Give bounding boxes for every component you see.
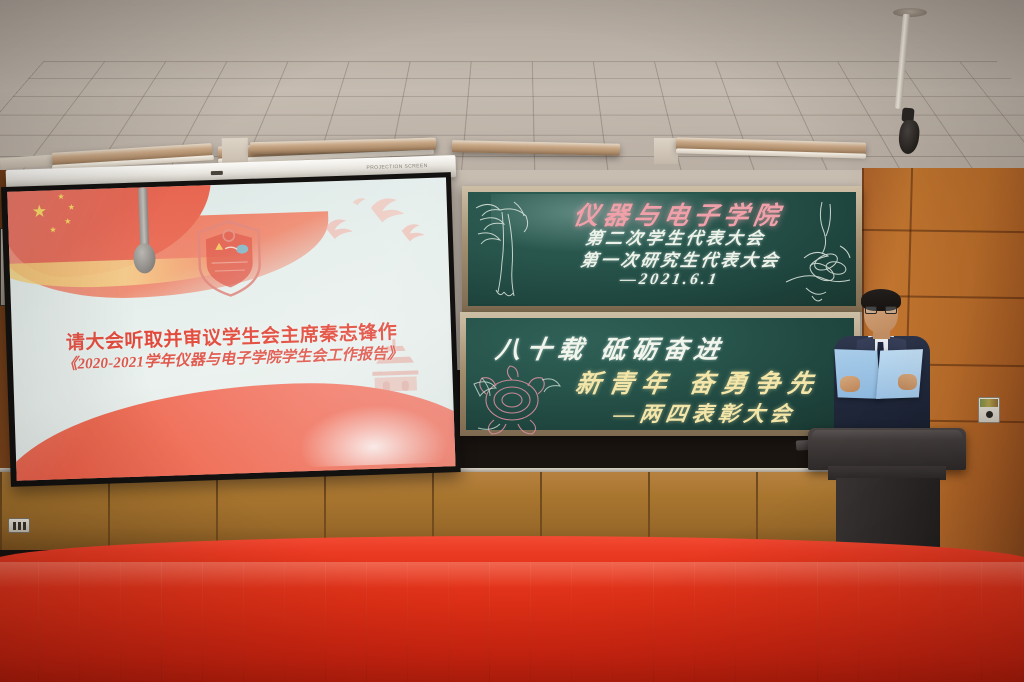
speaker-hand-right — [898, 374, 917, 390]
speaker-person — [828, 292, 934, 430]
flag-star-2: ★ — [68, 204, 75, 212]
tablecloth-highlight — [0, 562, 1024, 588]
wall-plate-button-icon[interactable] — [986, 411, 993, 418]
blackboard-lower: 八十载 砥砺奋进 新青年 奋勇争先 —两四表彰大会 — [460, 312, 860, 436]
flag-star-big: ★ — [32, 203, 48, 220]
blackboard-upper-line-3: 第一次研究生代表大会 — [579, 246, 783, 271]
blackboard-lower-line-2: 新青年 奋勇争先 — [573, 364, 824, 400]
blackboard-upper: 仪器与电子学院 第二次学生代表大会 第一次研究生代表大会 —2021.6.1 — [462, 186, 862, 312]
blackboard-lower-line-1: 八十载 砥砺奋进 — [493, 330, 728, 366]
orchid-ribbon-chalk-drawing — [470, 194, 532, 306]
eyeglasses-icon — [865, 306, 897, 314]
projected-slide: ★ ★ ★ ★ ★ — [7, 177, 455, 480]
blackboard-upper-surface: 仪器与电子学院 第二次学生代表大会 第一次研究生代表大会 —2021.6.1 — [468, 192, 856, 306]
speaker-hand-left — [840, 376, 860, 392]
slide-cloud-highlight — [297, 402, 449, 467]
university-emblem-icon — [194, 217, 265, 299]
folder-page-right — [876, 349, 923, 399]
flag-star-1: ★ — [57, 193, 64, 201]
wall-switch-plate[interactable] — [978, 397, 1000, 423]
projection-screen[interactable]: ★ ★ ★ ★ ★ — [1, 172, 461, 487]
power-outlet-icon[interactable] — [8, 518, 30, 533]
blackboard-upper-date: —2021.6.1 — [619, 271, 721, 289]
folder-page-left — [834, 349, 880, 399]
flag-star-4: ★ — [49, 226, 56, 234]
wall-plate-sticker — [980, 399, 998, 407]
blackboard-lower-surface: 八十载 砥砺奋进 新青年 奋勇争先 —两四表彰大会 — [466, 318, 854, 430]
flag-star-3: ★ — [64, 218, 71, 226]
ceiling-beam-right — [654, 138, 678, 164]
dove-icon-group — [312, 190, 434, 254]
podium-top-surface[interactable] — [808, 428, 966, 470]
screen-brand-label: PROJECTION SCREEN — [366, 163, 427, 171]
lecture-hall-scene: 2 1 1 5 PROJECTION SCREEN ★ ★ ★ ★ ★ — [0, 0, 1024, 682]
screen-sensor-icon — [211, 171, 223, 175]
ceiling-mount-plate-icon — [893, 8, 927, 17]
peony-flower-chalk-drawing — [468, 358, 578, 440]
red-tablecloth — [0, 562, 1024, 682]
blackboard-lower-line-3: —两四表彰大会 — [612, 398, 799, 428]
